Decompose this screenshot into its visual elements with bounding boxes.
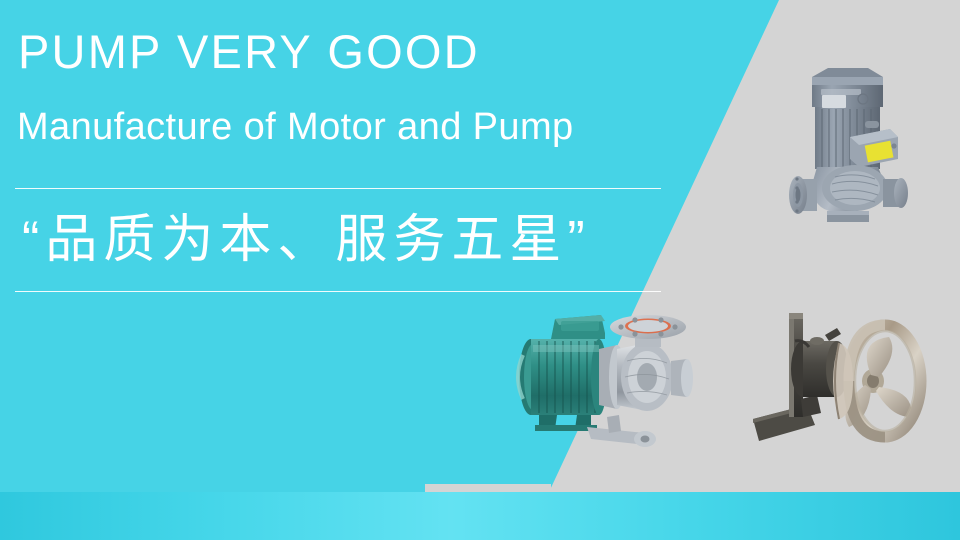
page-title: PUMP VERY GOOD [18, 28, 480, 75]
divider-bottom [15, 291, 661, 292]
vertical-inline-pump-image [765, 55, 955, 245]
bottom-gradient-band [0, 492, 960, 540]
divider-top [15, 188, 661, 189]
slogan-text: “品质为本、服务五星” [22, 198, 682, 282]
submersible-mixer-image [745, 295, 950, 460]
headline-text-block: PUMP VERY GOOD Manufacture of Motor and … [0, 0, 720, 492]
promotional-banner: PUMP VERY GOOD Manufacture of Motor and … [0, 0, 960, 540]
subtitle: Manufacture of Motor and Pump [17, 108, 574, 146]
